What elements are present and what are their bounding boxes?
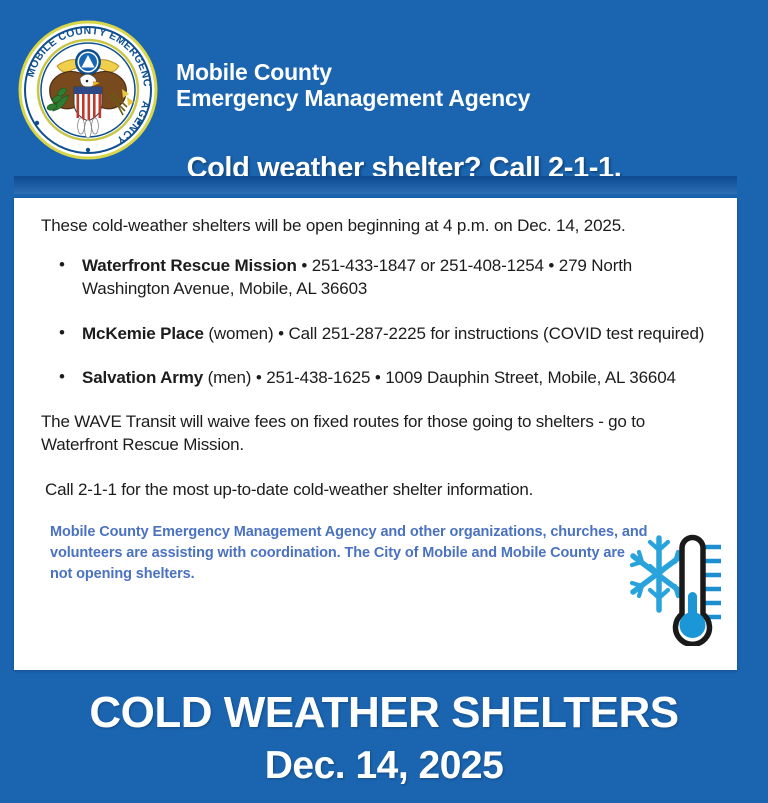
banner-title: COLD WEATHER SHELTERS bbox=[0, 670, 768, 735]
thermometer-snowflake-icon bbox=[625, 530, 729, 646]
list-item: Waterfront Rescue Mission • 251-433-1847… bbox=[59, 254, 715, 301]
shelter-details: (women) • Call 251-287-2225 for instruct… bbox=[204, 324, 704, 343]
intro-text: These cold-weather shelters will be open… bbox=[41, 215, 715, 238]
shelter-list: Waterfront Rescue Mission • 251-433-1847… bbox=[41, 254, 715, 390]
shelter-name: McKemie Place bbox=[82, 324, 204, 343]
list-item: McKemie Place (women) • Call 251-287-222… bbox=[59, 322, 715, 345]
disclaimer-text: Mobile County Emergency Management Agenc… bbox=[41, 522, 650, 586]
cold-weather-shelter-poster: MOBILE COUNTY EMERGENCY MANAGEMENT AGENC… bbox=[0, 0, 768, 803]
header-divider-band bbox=[14, 176, 737, 194]
shelter-name: Salvation Army bbox=[82, 368, 203, 387]
call-211-line: Call 2-1-1 for the most up-to-date cold-… bbox=[41, 479, 715, 502]
shelter-details: (men) • 251-438-1625 • 1009 Dauphin Stre… bbox=[203, 368, 676, 387]
shelter-name: Waterfront Rescue Mission bbox=[82, 256, 297, 275]
transit-note: The WAVE Transit will waive fees on fixe… bbox=[41, 411, 715, 457]
bottom-banner: COLD WEATHER SHELTERS Dec. 14, 2025 bbox=[0, 670, 768, 803]
poster-header: MOBILE COUNTY EMERGENCY MANAGEMENT AGENC… bbox=[0, 0, 768, 186]
banner-date: Dec. 14, 2025 bbox=[0, 735, 768, 785]
mobile-county-ema-seal-icon: MOBILE COUNTY EMERGENCY MANAGEMENT AGENC… bbox=[17, 19, 159, 161]
agency-name: Mobile County Emergency Management Agenc… bbox=[176, 60, 530, 112]
list-item: Salvation Army (men) • 251-438-1625 • 10… bbox=[59, 366, 715, 389]
content-card: These cold-weather shelters will be open… bbox=[14, 198, 737, 670]
